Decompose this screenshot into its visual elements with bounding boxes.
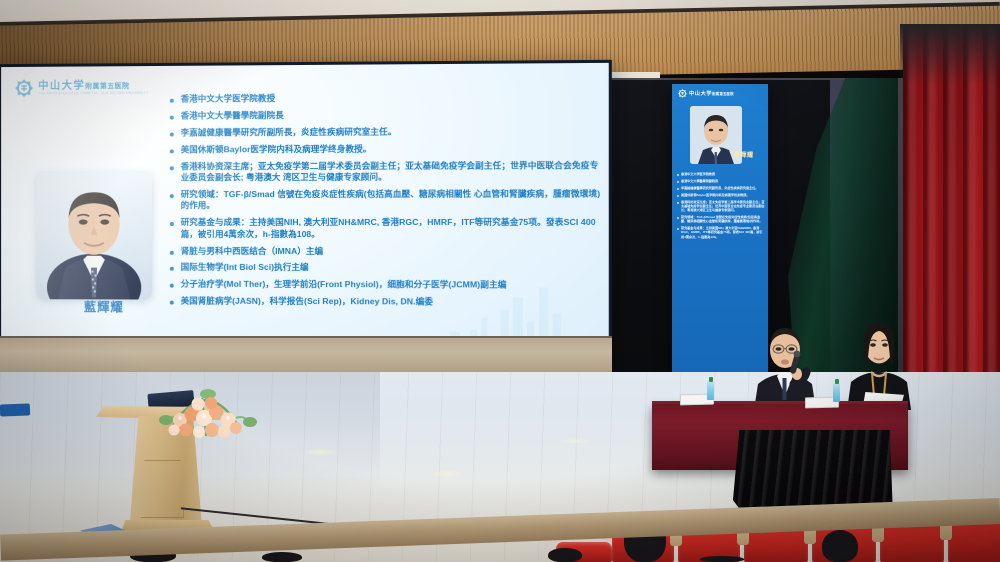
bullet-dot-icon <box>677 228 679 230</box>
floor-reflection <box>300 448 340 456</box>
bullet-dot-icon <box>170 250 174 254</box>
list-item: 李嘉誠健康醫學研究所副所長，炎症性疾病研究室主任。 <box>170 126 603 139</box>
curtain-top-shadow <box>900 24 1000 84</box>
bullet-dot-icon <box>170 284 174 288</box>
bullet-dot-icon <box>170 222 174 226</box>
bullet-dot-icon <box>170 166 174 170</box>
bullet-dot-icon <box>170 99 174 103</box>
list-item: 研究领域：TGF-β/Smad 信號在免疫炎症性疾病(包括高血壓、糖尿病相關性 … <box>170 188 603 211</box>
list-item: 国际生物学(Int Biol Sci)执行主编 <box>170 262 603 274</box>
speaker-portrait-photo <box>36 172 152 299</box>
podium-front-panel <box>140 460 184 518</box>
list-item: 李嘉誠健康醫學研究所副所長，炎症性疾病研究室主任。 <box>677 186 765 190</box>
bullet-dot-icon <box>677 217 679 219</box>
logo-chinese-text: 中山大学附属第五医院 <box>38 80 148 91</box>
floor-reflection <box>560 438 590 444</box>
sun-yat-sen-emblem-icon <box>678 89 687 98</box>
audience-person-head <box>262 552 302 562</box>
bullet-dot-icon <box>170 116 174 120</box>
list-item: 研究领域：TGF-β/Smad 信號在免疫炎症性疾病(包括高血壓、糖尿病相關性心… <box>677 215 765 224</box>
list-item: 香港中文大學醫學院副院長 <box>170 108 603 122</box>
water-bottle-left <box>707 381 714 400</box>
bullet-dot-icon <box>677 202 679 204</box>
bullet-dot-icon <box>170 132 174 136</box>
portrait-illustration <box>36 172 152 299</box>
banner-bullet-list: 香港中文大学医学院教授 香港中文大學醫學院副院長 李嘉誠健康醫學研究所副所長，炎… <box>677 172 765 241</box>
floor-reflection <box>430 470 464 477</box>
audience-person-head <box>700 556 744 562</box>
list-item: 美国休斯顿Baylor医学院内科及病理学终身教授。 <box>170 143 603 156</box>
list-item: 美国肾脏病学(JASN)，科学报告(Sci Rep)，Kidney Dis, D… <box>170 296 603 309</box>
bullet-dot-icon <box>170 149 174 153</box>
flower-arrangement <box>154 384 262 446</box>
bullet-dot-icon <box>677 188 679 190</box>
bullet-dot-icon <box>170 267 174 271</box>
banner-logo-text: 中山大学附属第五医院 <box>689 90 734 97</box>
banner-hospital-logo: 中山大学附属第五医院 <box>678 89 734 98</box>
bullet-dot-icon <box>677 181 679 183</box>
bullet-dot-icon <box>170 301 174 305</box>
wall-baseboard <box>0 338 612 372</box>
hospital-logo: 中山大学附属第五医院 THE FIFTH AFFILIATED HOSPITAL… <box>15 78 149 98</box>
banner-speaker-name: 藍輝耀 <box>734 150 754 159</box>
bullet-dot-icon <box>677 195 679 197</box>
logo-english-text: THE FIFTH AFFILIATED HOSPITAL, SUN YAT-S… <box>38 92 148 96</box>
sun-yat-sen-emblem-icon <box>15 79 34 98</box>
list-item: 香港科协资深主席；亚太免疫学第二届学术委员会副主任；亚太基础免疫学会副主任；世界… <box>170 160 603 184</box>
audience-person-head <box>822 530 858 562</box>
bullet-dot-icon <box>677 174 679 176</box>
list-item: 美国休斯顿Baylor医学院内科及病理学终身教授。 <box>677 193 765 197</box>
list-item: 研究基金与成果：主持美国NIH, 澳大利亚NH&MRC, 香港RGC，HMRF，… <box>677 226 765 239</box>
list-item: 分子治疗学(Mol Ther)，生理学前沿(Front Physiol)，细胞和… <box>170 279 603 292</box>
slide-speaker-name: 藍輝耀 <box>60 296 148 315</box>
wall-sign-placard <box>0 403 30 416</box>
list-item: 香港中文大学医学院教授 <box>170 91 603 105</box>
bullet-dot-icon <box>170 194 174 198</box>
list-item: 香港科协资深主席；亚太免疫学第二届学术委员会副主任；亚太基础免疫学会副主任；世界… <box>677 200 765 213</box>
speaking-podium <box>96 378 226 540</box>
list-item: 肾脏与男科中西医结合（IMNA）主编 <box>170 245 603 257</box>
slide-bullet-list: 香港中文大学医学院教授 香港中文大學醫學院副院長 李嘉誠健康醫學研究所副所長，炎… <box>170 91 603 314</box>
conference-hall-scene: 中山大学附属第五医院 THE FIFTH AFFILIATED HOSPITAL… <box>0 0 1000 562</box>
list-item: 香港中文大学医学院教授 <box>677 172 765 176</box>
water-bottle-right <box>833 383 840 402</box>
list-item: 香港中文大學醫學院副院長 <box>677 179 765 183</box>
audience-person-head <box>548 548 582 562</box>
list-item: 研究基金与成果：主持美国NIH, 澳大利亚NH&MRC, 香港RGC，HMRF，… <box>170 217 603 240</box>
